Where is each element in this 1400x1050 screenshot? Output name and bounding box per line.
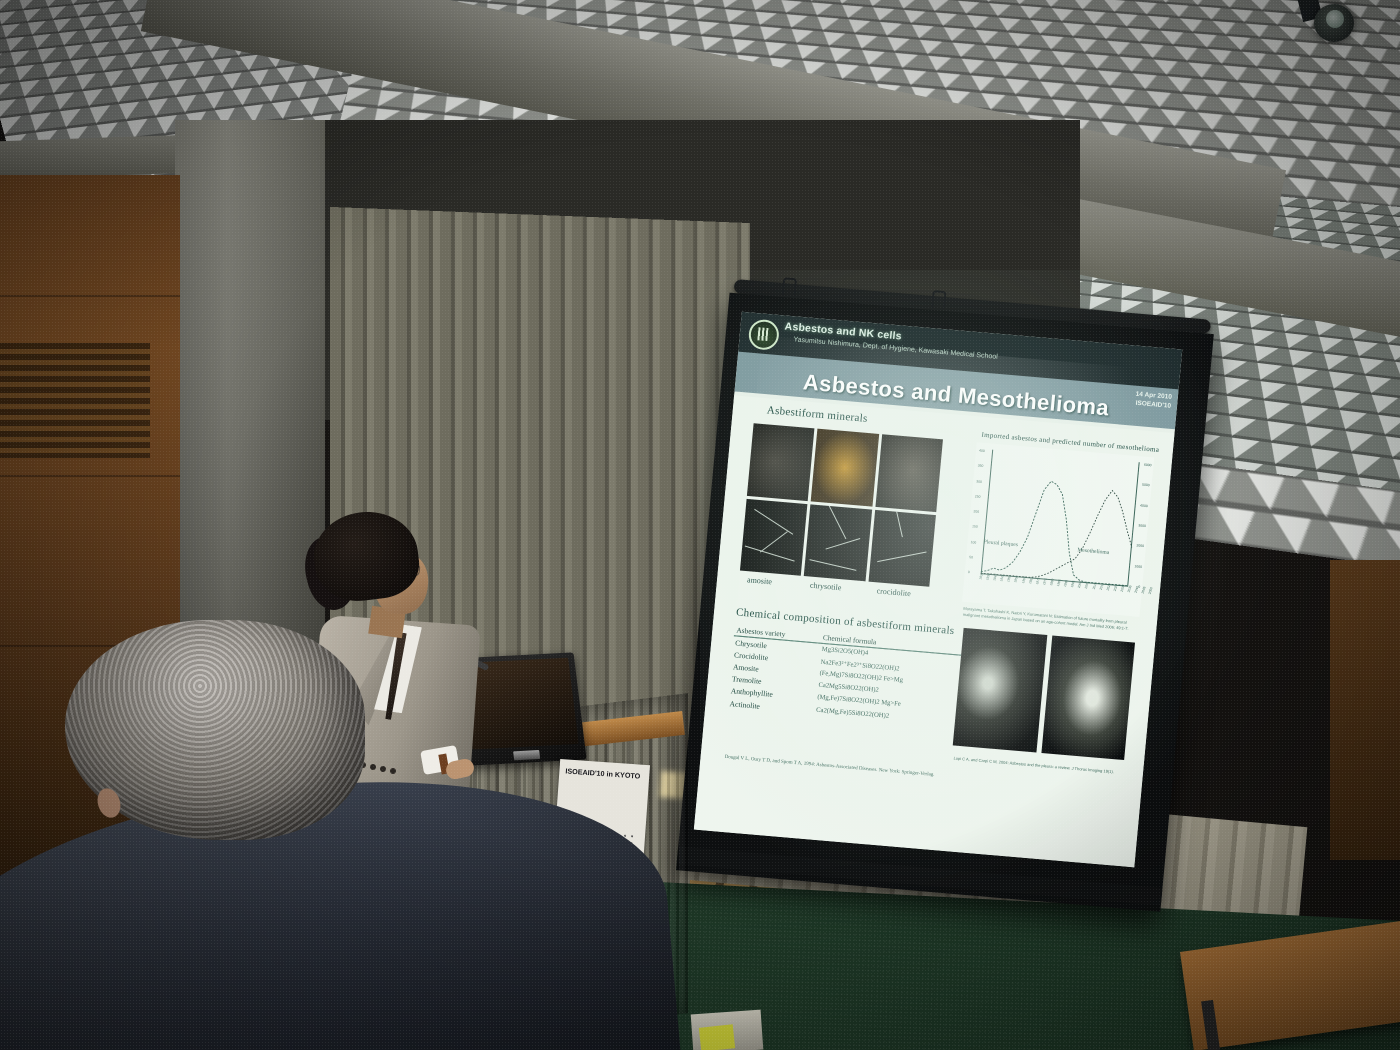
- spotlight-lens: [1326, 10, 1344, 28]
- floor-bag-yellow-item: [699, 1024, 735, 1050]
- xray-citation: Lupi C A, and Carpi C M, 2004: Asbestos …: [953, 755, 1123, 775]
- ceiling-spotlight: [1300, 0, 1366, 48]
- xray-pleural-plaques: [953, 628, 1047, 753]
- slide: Asbestos and NK cells Yasumitsu Nishimur…: [694, 312, 1182, 868]
- presentation-photo: Asbestos and NK cells Yasumitsu Nishimur…: [0, 0, 1400, 1050]
- screen-surface: Asbestos and NK cells Yasumitsu Nishimur…: [694, 312, 1182, 868]
- mineral-label-crocidolite: crocidolite: [876, 586, 911, 598]
- section-heading-minerals: Asbestiform minerals: [766, 404, 868, 425]
- medical-image-pair: [953, 628, 1135, 760]
- projection-screen: Asbestos and NK cells Yasumitsu Nishimur…: [667, 288, 1221, 928]
- mineral-photo-crocidolite-bulk: [875, 434, 943, 511]
- mineral-photo-grid: [740, 423, 943, 587]
- xray-mesothelioma: [1041, 635, 1135, 760]
- mineral-photo-chrysotile-bulk: [811, 429, 879, 506]
- mineral-label-amosite: amosite: [747, 575, 773, 586]
- mineral-photo-amosite-bulk: [747, 423, 815, 500]
- composition-table: Asbestos variety Chemical formula Chryso…: [727, 624, 964, 728]
- slide-body: Asbestiform minerals: [694, 395, 1175, 867]
- table-citation: Dougal V L, Oury T D, and Spom T A, 1994…: [724, 754, 944, 780]
- mineral-micrograph-chrysotile: [804, 504, 872, 581]
- mineral-micrograph-amosite: [740, 498, 808, 575]
- wall-vent-grille: [0, 343, 150, 458]
- wood-wall-panel-right: [1330, 560, 1400, 860]
- mesothelioma-chart: 050100150200250300350400 010002000300040…: [962, 442, 1154, 617]
- mineral-label-chrysotile: chrysotile: [810, 581, 842, 593]
- foreground-audience-member: [0, 620, 670, 1050]
- mineral-micrograph-crocidolite: [868, 509, 936, 586]
